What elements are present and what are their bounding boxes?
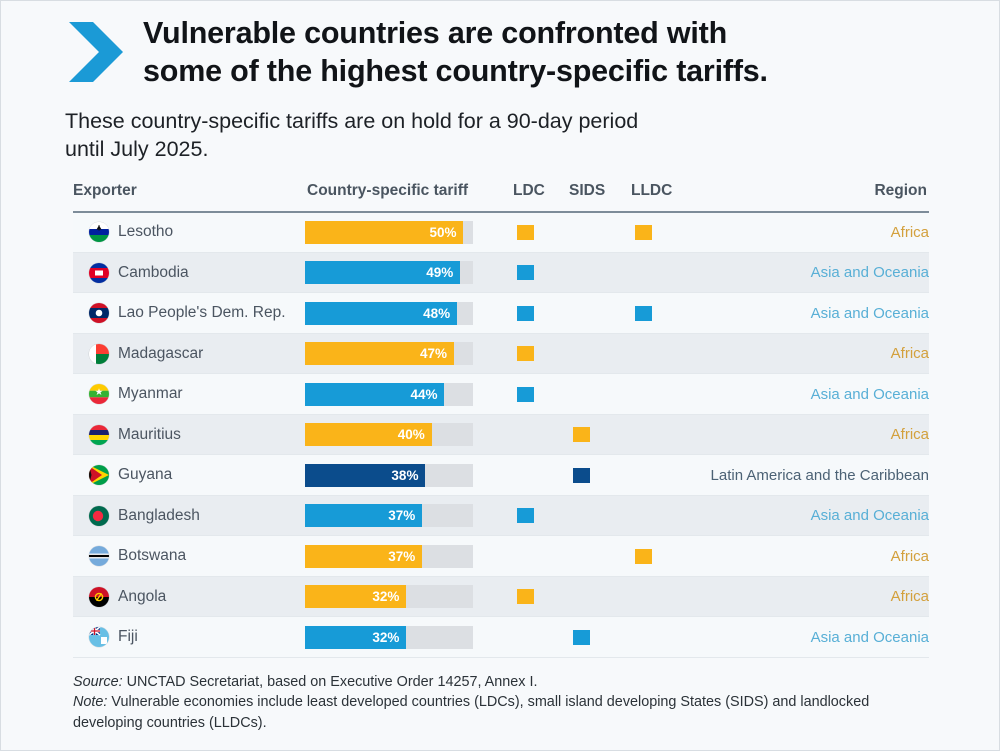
cell-ldc [513,374,569,415]
table-row[interactable]: Lao People's Dem. Rep.48%Asia and Oceani… [73,293,929,334]
tariff-bar-track: 32% [305,585,473,608]
sids-marker-empty [573,265,590,280]
definition-note: Note: Vulnerable economies include least… [73,692,929,733]
table-row[interactable]: Lesotho50%Africa [73,212,929,253]
table-header: Exporter Country-specific tariff LDC SID… [73,182,929,212]
tariff-bar-track: 48% [305,302,473,325]
cell-lldc [631,495,701,536]
lldc-marker-empty [635,346,652,361]
tariff-bar-fill: 37% [305,545,422,568]
column-header-lldc: LLDC [631,182,701,212]
exporter-cell: Lesotho [73,222,305,242]
column-header-sids: SIDS [569,182,631,212]
column-header-ldc: LDC [513,182,569,212]
cell-tariff: 40% [305,414,513,455]
sids-marker-empty [573,346,590,361]
ldc-marker-icon [517,225,534,240]
flag-icon [89,425,109,445]
exporter-cell: Guyana [73,465,305,485]
cell-ldc [513,455,569,496]
ldc-marker-icon [517,387,534,402]
cell-region: Africa [701,576,929,617]
cell-lldc [631,576,701,617]
lldc-marker-empty [635,508,652,523]
table-body: Lesotho50%AfricaCambodia49%Asia and Ocea… [73,212,929,658]
flag-icon [89,627,109,647]
cell-ldc [513,252,569,293]
table-row[interactable]: Madagascar47%Africa [73,333,929,374]
tariff-bar-track: 40% [305,423,473,446]
cell-exporter: Fiji [73,617,305,658]
cell-region: Asia and Oceania [701,374,929,415]
cell-sids [569,414,631,455]
cell-tariff: 32% [305,576,513,617]
cell-region: Asia and Oceania [701,252,929,293]
tariff-bar-track: 38% [305,464,473,487]
exporter-cell: Fiji [73,627,305,647]
tariff-bar-track: 37% [305,504,473,527]
ldc-marker-empty [517,549,534,564]
sids-marker-icon [573,630,590,645]
cell-exporter: Bangladesh [73,495,305,536]
cell-exporter: Guyana [73,455,305,496]
column-header-tariff: Country-specific tariff [305,182,513,212]
infographic-canvas: Vulnerable countries are confronted with… [0,0,1000,751]
chevron-right-icon [63,17,129,87]
cell-lldc [631,212,701,253]
flag-icon [89,344,109,364]
cell-exporter: Cambodia [73,252,305,293]
cell-sids [569,495,631,536]
tariff-bar-track: 37% [305,545,473,568]
tariff-value-label: 37% [388,549,422,564]
table-header-row: Exporter Country-specific tariff LDC SID… [73,182,929,212]
tariff-value-label: 48% [423,306,457,321]
tariff-value-label: 49% [426,265,460,280]
sids-marker-empty [573,549,590,564]
sids-marker-empty [573,387,590,402]
cell-lldc [631,536,701,577]
tariff-bar-fill: 44% [305,383,444,406]
table-row[interactable]: Cambodia49%Asia and Oceania [73,252,929,293]
cell-tariff: 37% [305,495,513,536]
exporter-name: Myanmar [118,385,183,403]
tariff-bar-track: 50% [305,221,473,244]
lldc-marker-empty [635,468,652,483]
exporter-name: Lao People's Dem. Rep. [118,304,286,322]
cell-lldc [631,293,701,334]
exporter-cell: Madagascar [73,344,305,364]
ldc-marker-icon [517,589,534,604]
tariff-bar-fill: 49% [305,261,460,284]
cell-lldc [631,414,701,455]
tariff-bar-fill: 47% [305,342,454,365]
exporter-name: Madagascar [118,345,203,363]
source-text: UNCTAD Secretariat, based on Executive O… [123,674,538,690]
lldc-marker-icon [635,549,652,564]
cell-sids [569,536,631,577]
cell-sids [569,617,631,658]
header: Vulnerable countries are confronted with… [1,1,999,91]
ldc-marker-empty [517,427,534,442]
cell-ldc [513,536,569,577]
lldc-marker-empty [635,589,652,604]
cell-sids [569,252,631,293]
cell-exporter: Botswana [73,536,305,577]
flag-icon [89,222,109,242]
ldc-marker-icon [517,346,534,361]
flag-icon [89,465,109,485]
tariff-value-label: 38% [391,468,425,483]
tariff-value-label: 44% [410,387,444,402]
exporter-cell: Angola [73,587,305,607]
cell-ldc [513,212,569,253]
footnotes: Source: UNCTAD Secretariat, based on Exe… [73,672,929,733]
table-row[interactable]: Bangladesh37%Asia and Oceania [73,495,929,536]
cell-lldc [631,455,701,496]
cell-region: Africa [701,536,929,577]
ldc-marker-icon [517,508,534,523]
table-row[interactable]: Botswana37%Africa [73,536,929,577]
tariff-value-label: 50% [429,225,463,240]
cell-sids [569,374,631,415]
lldc-marker-empty [635,387,652,402]
cell-lldc [631,374,701,415]
tariff-bar-fill: 32% [305,626,406,649]
cell-region: Africa [701,414,929,455]
flag-icon [89,303,109,323]
tariff-value-label: 32% [372,589,406,604]
tariff-bar-track: 49% [305,261,473,284]
cell-ldc [513,414,569,455]
sids-marker-icon [573,427,590,442]
cell-sids [569,576,631,617]
subtitle-line-1: These country-specific tariffs are on ho… [65,107,975,136]
sids-marker-empty [573,225,590,240]
tariff-bar-track: 32% [305,626,473,649]
tariff-value-label: 37% [388,508,422,523]
cell-ldc [513,617,569,658]
cell-ldc [513,333,569,374]
cell-sids [569,333,631,374]
tariff-bar-track: 47% [305,342,473,365]
cell-tariff: 44% [305,374,513,415]
cell-tariff: 49% [305,252,513,293]
exporter-name: Lesotho [118,223,173,241]
exporter-cell: Mauritius [73,425,305,445]
flag-icon [89,263,109,283]
cell-tariff: 37% [305,536,513,577]
cell-tariff: 47% [305,333,513,374]
lldc-marker-icon [635,225,652,240]
note-label: Note: [73,694,107,710]
cell-exporter: Mauritius [73,414,305,455]
cell-ldc [513,495,569,536]
tariff-table-wrapper: Exporter Country-specific tariff LDC SID… [73,182,929,658]
cell-region: Latin America and the Caribbean [701,455,929,496]
exporter-cell: Myanmar [73,384,305,404]
exporter-name: Botswana [118,547,186,565]
table-row[interactable]: Fiji32%Asia and Oceania [73,617,929,658]
cell-region: Africa [701,212,929,253]
table-row[interactable]: Myanmar44%Asia and Oceania [73,374,929,415]
cell-region: Asia and Oceania [701,293,929,334]
flag-icon [89,587,109,607]
exporter-name: Bangladesh [118,507,200,525]
source-label: Source: [73,674,123,690]
cell-exporter: Madagascar [73,333,305,374]
exporter-cell: Botswana [73,546,305,566]
subtitle-line-2: until July 2025. [65,135,975,164]
subtitle: These country-specific tariffs are on ho… [1,107,999,164]
title-line-1: Vulnerable countries are confronted with [143,15,768,53]
flag-icon [89,506,109,526]
column-header-region: Region [701,182,929,212]
exporter-cell: Cambodia [73,263,305,283]
cell-ldc [513,293,569,334]
ldc-marker-empty [517,630,534,645]
cell-tariff: 48% [305,293,513,334]
cell-exporter: Myanmar [73,374,305,415]
sids-marker-empty [573,508,590,523]
exporter-cell: Bangladesh [73,506,305,526]
title-line-2: some of the highest country-specific tar… [143,53,768,91]
cell-tariff: 38% [305,455,513,496]
cell-sids [569,455,631,496]
cell-lldc [631,333,701,374]
exporter-name: Cambodia [118,264,189,282]
table-row[interactable]: Mauritius40%Africa [73,414,929,455]
tariff-bar-fill: 40% [305,423,432,446]
lldc-marker-empty [635,427,652,442]
tariff-value-label: 47% [420,346,454,361]
ldc-marker-icon [517,306,534,321]
cell-region: Africa [701,333,929,374]
cell-tariff: 32% [305,617,513,658]
sids-marker-empty [573,306,590,321]
cell-region: Asia and Oceania [701,617,929,658]
tariff-value-label: 40% [398,427,432,442]
flag-icon [89,546,109,566]
exporter-name: Angola [118,588,166,606]
tariff-bar-track: 44% [305,383,473,406]
table-row[interactable]: Angola32%Africa [73,576,929,617]
page-title: Vulnerable countries are confronted with… [143,11,768,91]
cell-lldc [631,252,701,293]
tariff-bar-fill: 48% [305,302,457,325]
ldc-marker-icon [517,265,534,280]
exporter-name: Guyana [118,466,172,484]
column-header-exporter: Exporter [73,182,305,212]
source-note: Source: UNCTAD Secretariat, based on Exe… [73,672,929,692]
cell-exporter: Angola [73,576,305,617]
ldc-marker-empty [517,468,534,483]
cell-tariff: 50% [305,212,513,253]
lldc-marker-icon [635,306,652,321]
tariff-bar-fill: 32% [305,585,406,608]
exporter-name: Fiji [118,628,138,646]
cell-ldc [513,576,569,617]
lldc-marker-empty [635,265,652,280]
exporter-cell: Lao People's Dem. Rep. [73,303,305,323]
cell-lldc [631,617,701,658]
table-row[interactable]: Guyana38%Latin America and the Caribbean [73,455,929,496]
tariff-value-label: 32% [372,630,406,645]
tariff-bar-fill: 50% [305,221,463,244]
sids-marker-icon [573,468,590,483]
tariff-bar-fill: 38% [305,464,425,487]
cell-exporter: Lesotho [73,212,305,253]
flag-icon [89,384,109,404]
cell-exporter: Lao People's Dem. Rep. [73,293,305,334]
tariff-table: Exporter Country-specific tariff LDC SID… [73,182,929,658]
note-text: Vulnerable economies include least devel… [73,694,869,730]
cell-sids [569,212,631,253]
cell-region: Asia and Oceania [701,495,929,536]
tariff-bar-fill: 37% [305,504,422,527]
cell-sids [569,293,631,334]
lldc-marker-empty [635,630,652,645]
sids-marker-empty [573,589,590,604]
exporter-name: Mauritius [118,426,181,444]
